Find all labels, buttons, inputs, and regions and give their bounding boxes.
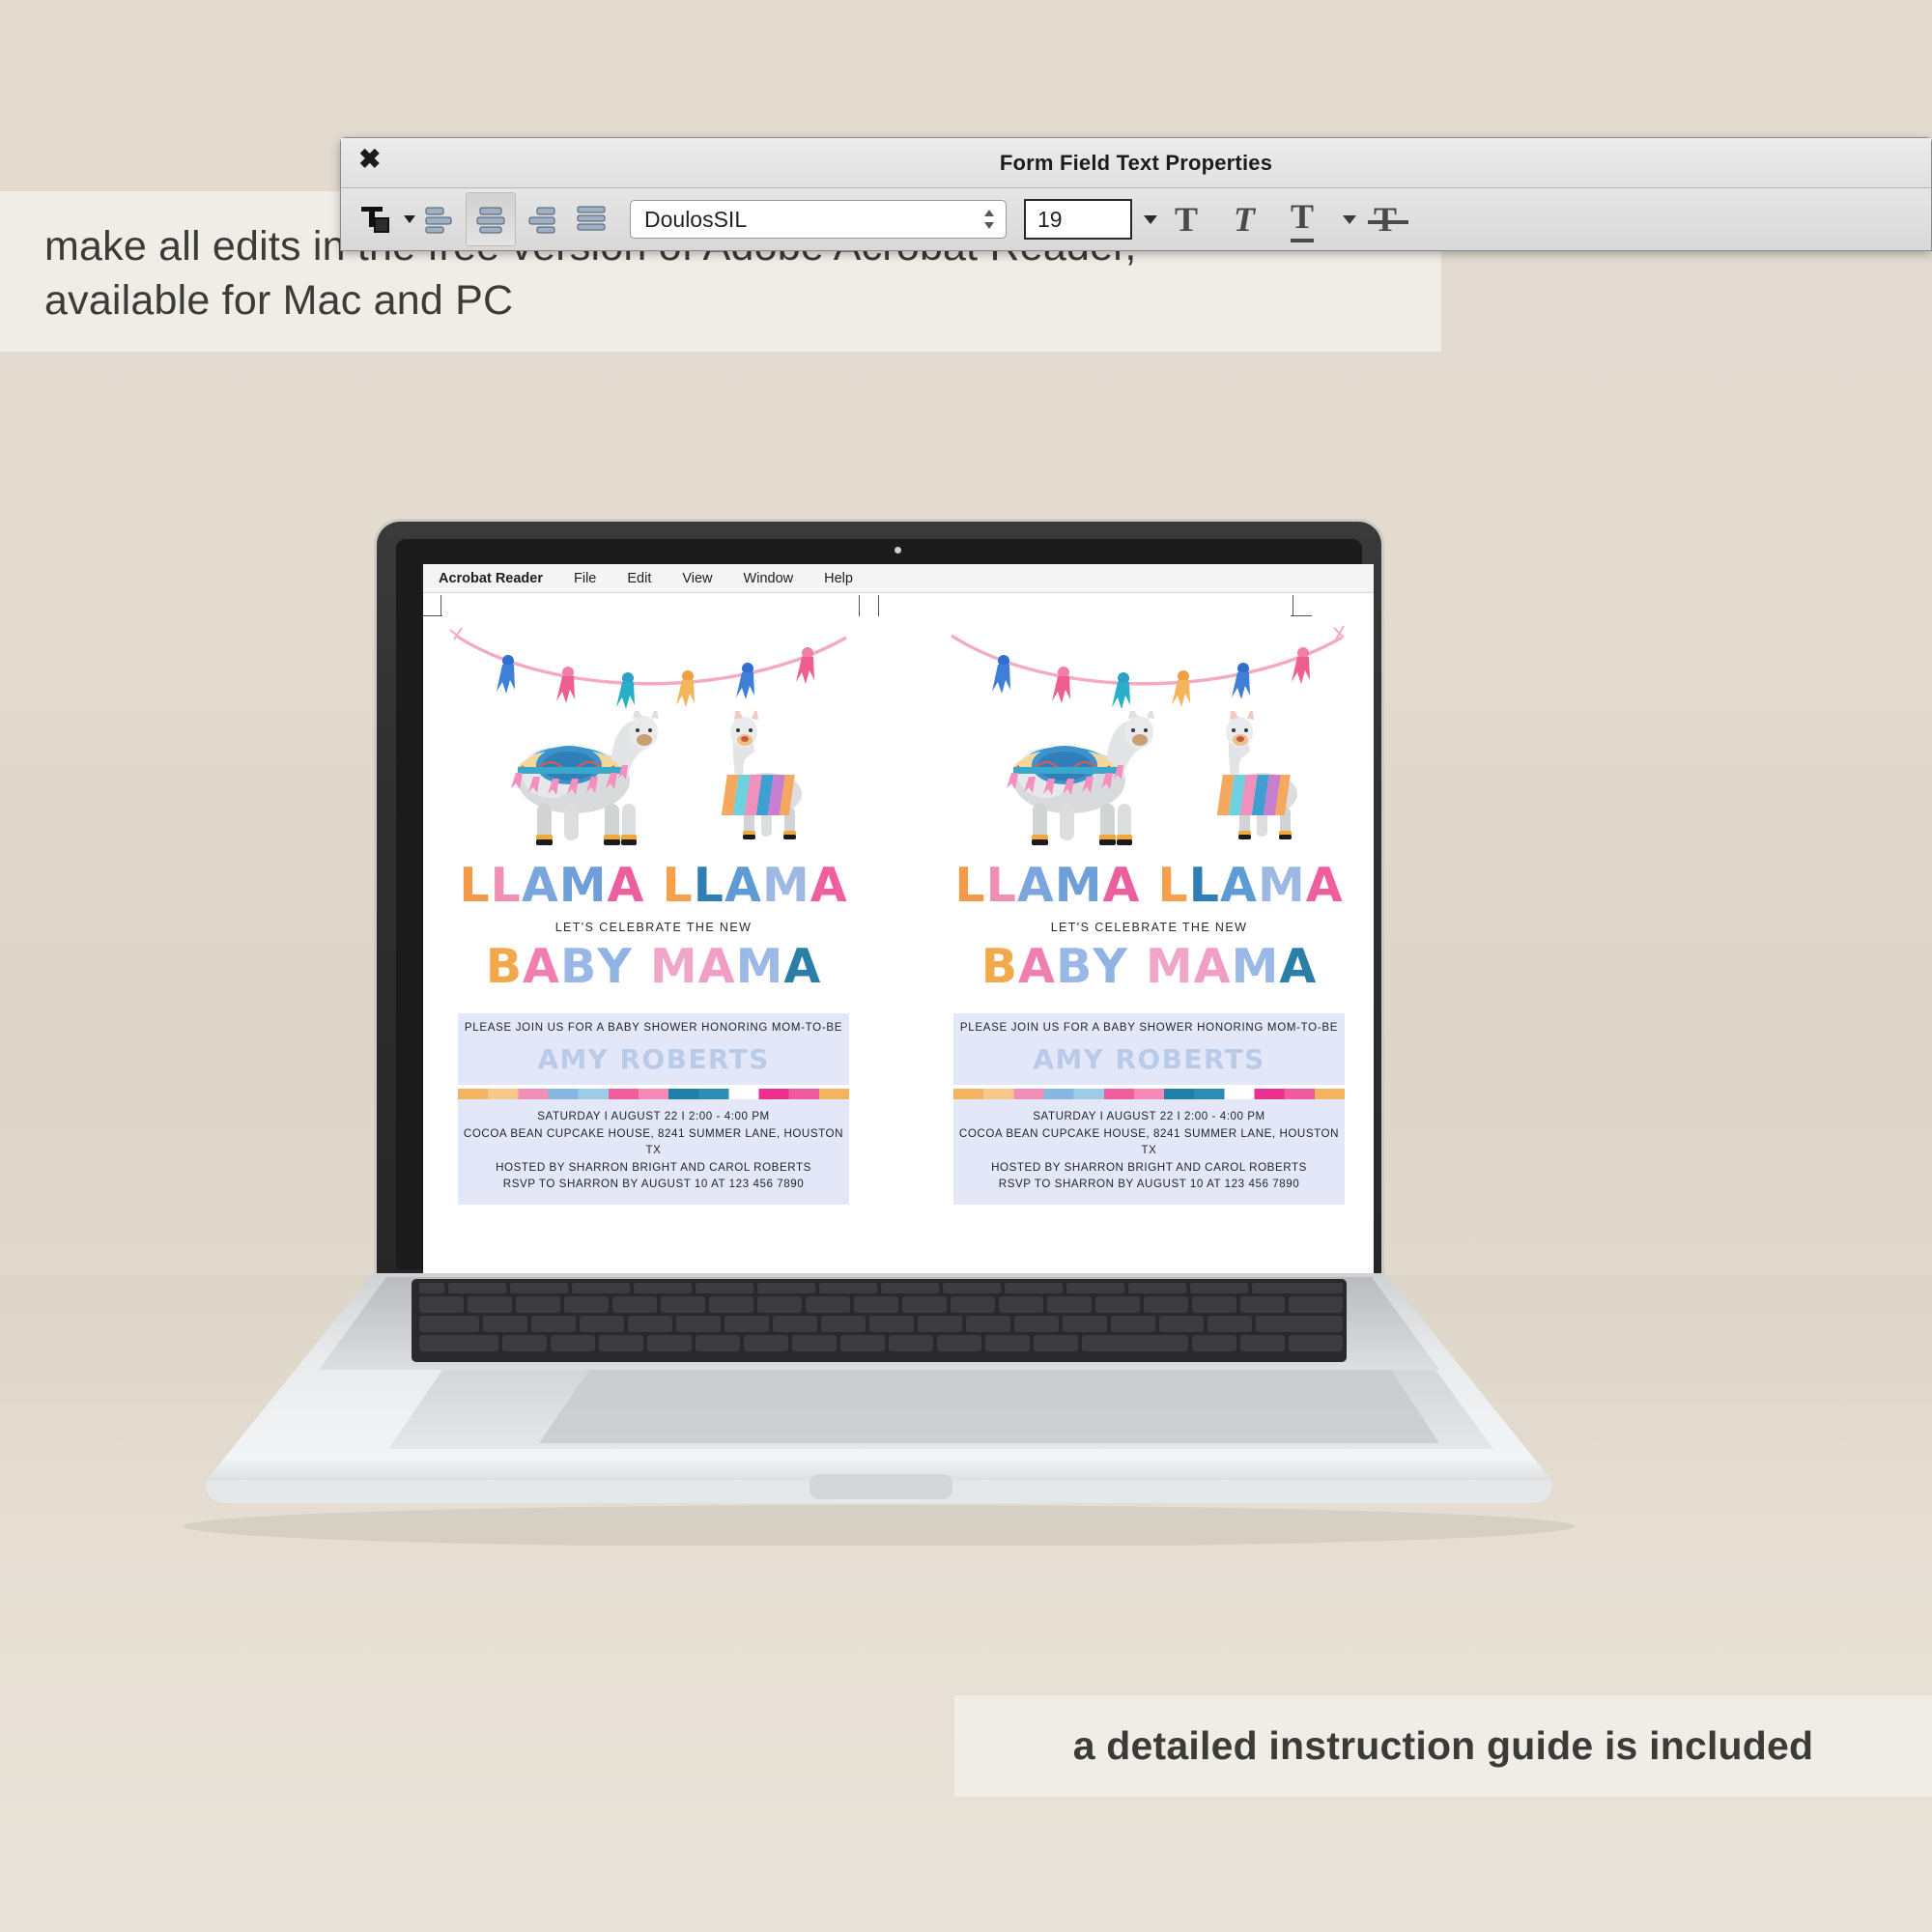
big-llama-icon bbox=[511, 711, 659, 845]
form-field-block[interactable]: PLEASE JOIN US FOR A BABY SHOWER HONORIN… bbox=[458, 1013, 849, 1085]
color-stripe-divider bbox=[458, 1089, 849, 1099]
laptop-mockup: Acrobat Reader File Edit View Window Hel… bbox=[184, 522, 1575, 1546]
join-text: PLEASE JOIN US FOR A BABY SHOWER HONORIN… bbox=[957, 1022, 1341, 1034]
honoree-name-field[interactable]: AMY ROBERTS bbox=[957, 1043, 1341, 1081]
title-letter: Y bbox=[597, 943, 632, 990]
detail-line: HOSTED BY SHARRON BRIGHT AND CAROL ROBER… bbox=[462, 1159, 845, 1177]
title-letter: A bbox=[1306, 862, 1344, 909]
webcam-icon bbox=[895, 547, 901, 554]
strikethrough-icon[interactable]: T bbox=[1356, 192, 1414, 246]
italic-icon[interactable]: T bbox=[1215, 192, 1273, 246]
title-letter bbox=[1140, 862, 1157, 909]
invitation-card[interactable]: LLAMA LLAMA LET'S CELEBRATE THE NEW BABY… bbox=[953, 618, 1345, 1205]
align-justify-icon[interactable] bbox=[566, 192, 616, 246]
title-letter: L bbox=[954, 862, 985, 909]
title-letter: L bbox=[694, 862, 724, 909]
title-letter: M bbox=[650, 943, 698, 990]
form-field-text-properties-toolbar[interactable]: ✖ Form Field Text Properties bbox=[340, 137, 1932, 251]
font-size-input[interactable]: 19 bbox=[1024, 199, 1132, 240]
crop-mark-top-left bbox=[440, 595, 441, 616]
crop-mark-top-mid-b bbox=[878, 595, 879, 616]
big-llama-icon bbox=[1007, 711, 1154, 845]
title-letter: A bbox=[1220, 862, 1258, 909]
title-letter: A bbox=[1194, 943, 1232, 990]
align-center-icon[interactable] bbox=[466, 192, 516, 246]
title-letter: M bbox=[736, 943, 784, 990]
acrobat-menubar: Acrobat Reader File Edit View Window Hel… bbox=[423, 564, 1374, 593]
top-caption-line-2: available for Mac and PC bbox=[44, 274, 1441, 328]
detail-line: COCOA BEAN CUPCAKE HOUSE, 8241 SUMMER LA… bbox=[957, 1125, 1341, 1159]
text-field-tool-icon[interactable] bbox=[351, 192, 401, 246]
card-subtitle: LET'S CELEBRATE THE NEW bbox=[458, 921, 849, 934]
menu-item-file[interactable]: File bbox=[558, 571, 611, 586]
title-letter bbox=[644, 862, 662, 909]
title-letter: A bbox=[523, 943, 560, 990]
tassel-garland-illustration bbox=[448, 624, 854, 713]
properties-title-text: Form Field Text Properties bbox=[1000, 151, 1272, 176]
llama-illustration-row bbox=[458, 711, 849, 854]
card-title-line-1: LLAMA LLAMA bbox=[458, 862, 849, 909]
title-letter: A bbox=[1103, 862, 1141, 909]
font-family-select[interactable]: DoulosSIL bbox=[630, 200, 1007, 239]
card-title-line-1: LLAMA LLAMA bbox=[953, 862, 1345, 909]
menu-item-help[interactable]: Help bbox=[809, 571, 868, 586]
invitation-card[interactable]: LLAMA LLAMA LET'S CELEBRATE THE NEW BABY… bbox=[458, 618, 849, 1205]
baby-llama-icon bbox=[722, 711, 802, 839]
invitation-cards-row: LLAMA LLAMA LET'S CELEBRATE THE NEW BABY… bbox=[423, 593, 1374, 1205]
title-letter: M bbox=[1146, 943, 1194, 990]
align-right-icon[interactable] bbox=[516, 192, 566, 246]
crop-mark-top-left-h bbox=[423, 615, 442, 616]
title-letter: L bbox=[986, 862, 1017, 909]
card-subtitle: LET'S CELEBRATE THE NEW bbox=[953, 921, 1345, 934]
font-family-stepper-icon[interactable] bbox=[982, 208, 996, 231]
title-letter bbox=[633, 943, 650, 990]
title-letter: A bbox=[1017, 862, 1055, 909]
title-letter: L bbox=[459, 862, 490, 909]
title-letter: Y bbox=[1093, 943, 1127, 990]
color-stripe-divider bbox=[953, 1089, 1345, 1099]
title-letter: B bbox=[1056, 943, 1093, 990]
llama-pair-illustration bbox=[458, 711, 849, 856]
title-letter: M bbox=[1258, 862, 1306, 909]
crop-mark-top-right bbox=[1293, 595, 1293, 616]
title-letter: L bbox=[1189, 862, 1220, 909]
title-letter: L bbox=[491, 862, 522, 909]
event-details-block[interactable]: SATURDAY I AUGUST 22 I 2:00 - 4:00 PM CO… bbox=[953, 1099, 1345, 1205]
detail-line: RSVP TO SHARRON BY AUGUST 10 AT 123 456 … bbox=[462, 1176, 845, 1193]
laptop-bezel: Acrobat Reader File Edit View Window Hel… bbox=[396, 539, 1362, 1269]
font-size-dropdown-caret-icon[interactable] bbox=[1144, 215, 1157, 224]
crop-mark-top-right-h bbox=[1291, 615, 1312, 616]
title-letter: L bbox=[1158, 862, 1189, 909]
menu-item-window[interactable]: Window bbox=[728, 571, 810, 586]
laptop-base bbox=[184, 1273, 1575, 1546]
pdf-document-area[interactable]: LLAMA LLAMA LET'S CELEBRATE THE NEW BABY… bbox=[423, 593, 1374, 1279]
title-letter: A bbox=[1279, 943, 1317, 990]
title-letter: A bbox=[783, 943, 821, 990]
underline-icon[interactable]: T bbox=[1273, 192, 1331, 246]
menu-item-edit[interactable]: Edit bbox=[611, 571, 667, 586]
detail-line: HOSTED BY SHARRON BRIGHT AND CAROL ROBER… bbox=[957, 1159, 1341, 1177]
title-letter: A bbox=[608, 862, 645, 909]
font-family-value: DoulosSIL bbox=[644, 207, 747, 233]
bold-icon[interactable]: T bbox=[1157, 192, 1215, 246]
tassel-garland-illustration bbox=[944, 624, 1350, 713]
properties-titlebar: ✖ Form Field Text Properties bbox=[341, 138, 1931, 188]
menu-item-view[interactable]: View bbox=[667, 571, 727, 586]
text-tool-dropdown-caret-icon[interactable] bbox=[404, 215, 415, 223]
join-text: PLEASE JOIN US FOR A BABY SHOWER HONORIN… bbox=[462, 1022, 845, 1034]
detail-line: RSVP TO SHARRON BY AUGUST 10 AT 123 456 … bbox=[957, 1176, 1341, 1193]
close-icon[interactable]: ✖ bbox=[358, 146, 381, 173]
title-letter: A bbox=[724, 862, 762, 909]
bottom-caption-banner: a detailed instruction guide is included bbox=[954, 1695, 1932, 1797]
title-letter: M bbox=[1055, 862, 1103, 909]
title-letter: B bbox=[560, 943, 597, 990]
card-title-line-2: BABY MAMA bbox=[953, 943, 1345, 990]
title-letter bbox=[1128, 943, 1146, 990]
laptop-screen: Acrobat Reader File Edit View Window Hel… bbox=[423, 564, 1374, 1279]
detail-line: SATURDAY I AUGUST 22 I 2:00 - 4:00 PM bbox=[957, 1108, 1341, 1125]
llama-pair-illustration bbox=[953, 711, 1345, 856]
card-title-line-2: BABY MAMA bbox=[458, 943, 849, 990]
baby-llama-icon bbox=[1217, 711, 1297, 839]
align-left-icon[interactable] bbox=[415, 192, 466, 246]
laptop-lid: Acrobat Reader File Edit View Window Hel… bbox=[377, 522, 1381, 1285]
title-letter: M bbox=[1232, 943, 1280, 990]
title-letter: B bbox=[486, 943, 523, 990]
title-letter: M bbox=[762, 862, 810, 909]
llama-illustration-row bbox=[953, 711, 1345, 854]
bottom-caption-text: a detailed instruction guide is included bbox=[1073, 1723, 1814, 1769]
menu-app-name[interactable]: Acrobat Reader bbox=[435, 571, 558, 586]
title-letter: B bbox=[981, 943, 1018, 990]
title-letter: A bbox=[698, 943, 736, 990]
underline-dropdown-caret-icon[interactable] bbox=[1343, 215, 1356, 224]
title-letter: A bbox=[522, 862, 559, 909]
detail-line: SATURDAY I AUGUST 22 I 2:00 - 4:00 PM bbox=[462, 1108, 845, 1125]
honoree-name-field[interactable]: AMY ROBERTS bbox=[462, 1043, 845, 1081]
form-field-block[interactable]: PLEASE JOIN US FOR A BABY SHOWER HONORIN… bbox=[953, 1013, 1345, 1085]
title-letter: A bbox=[1018, 943, 1056, 990]
detail-line: COCOA BEAN CUPCAKE HOUSE, 8241 SUMMER LA… bbox=[462, 1125, 845, 1159]
font-size-value: 19 bbox=[1037, 207, 1063, 233]
event-details-block[interactable]: SATURDAY I AUGUST 22 I 2:00 - 4:00 PM CO… bbox=[458, 1099, 849, 1205]
title-letter: A bbox=[810, 862, 848, 909]
crop-mark-top-mid-a bbox=[859, 595, 860, 616]
properties-controls-row: DoulosSIL 19 T T T T bbox=[341, 188, 1931, 250]
title-letter: L bbox=[663, 862, 694, 909]
title-letter: M bbox=[559, 862, 608, 909]
